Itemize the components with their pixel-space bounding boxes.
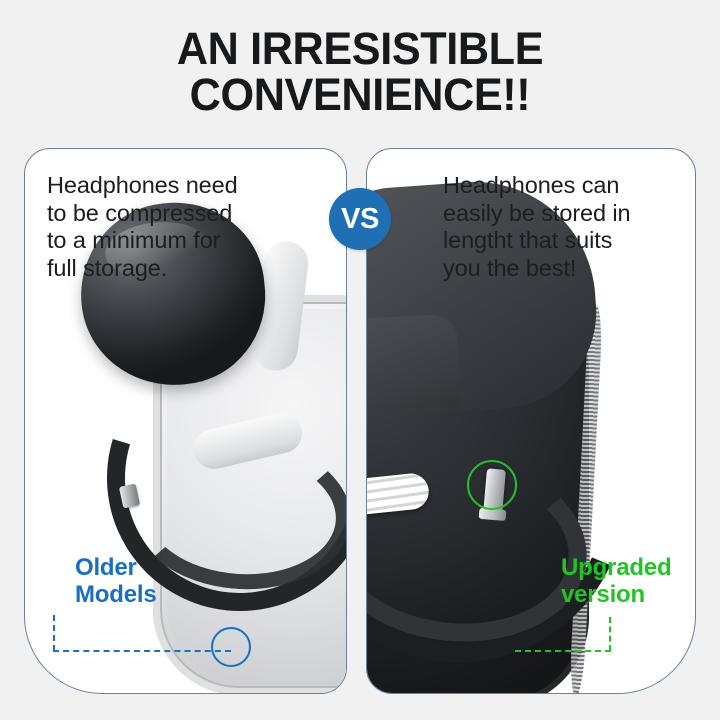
title-line-2: CONVENIENCE!! [14,72,705,118]
caption-line-2: to be compressed [47,200,287,228]
caption-line-3: to a minimum for [47,227,287,255]
infographic-canvas: AN IRRESISTIBLE CONVENIENCE!! Headphones… [0,0,720,720]
panel-caption-older: Headphones need to be compressed to a mi… [47,172,287,283]
leader-line-vertical-upgraded [609,617,611,651]
caption-line-1: Headphones need [47,172,287,200]
page-title: AN IRRESISTIBLE CONVENIENCE!! [14,26,705,119]
comparison-panel-older: Headphones need to be compressed to a mi… [24,148,347,694]
comparison-panel-upgraded: Headphones can easily be stored in lengt… [366,148,696,694]
vs-badge: VS [329,188,391,250]
leader-line-horizontal-upgraded [515,650,611,652]
callout-line-1: Upgraded [561,554,673,581]
leader-line-horizontal-older [53,650,231,652]
callout-line-1: Older [75,554,156,581]
leader-line-vertical-older [53,615,55,651]
headphone-body-tab [366,314,461,413]
caption-line-4: full storage. [47,255,287,283]
panel-caption-upgraded: Headphones can easily be stored in lengt… [443,172,675,283]
caption-line-3: lengtht that suits [443,227,675,255]
caption-line-4: you the best! [443,255,675,283]
callout-label-older-models: Older Models [75,554,156,609]
caption-line-2: easily be stored in [443,200,675,228]
vs-badge-label: VS [341,203,379,236]
highlight-ring-upgraded [467,460,517,510]
title-line-1: AN IRRESISTIBLE [14,26,705,72]
callout-line-2: Models [75,581,156,608]
highlight-ring-older [211,627,251,667]
caption-line-1: Headphones can [443,172,675,200]
callout-label-upgraded-version: Upgraded version [561,554,673,609]
callout-line-2: version [561,581,673,608]
